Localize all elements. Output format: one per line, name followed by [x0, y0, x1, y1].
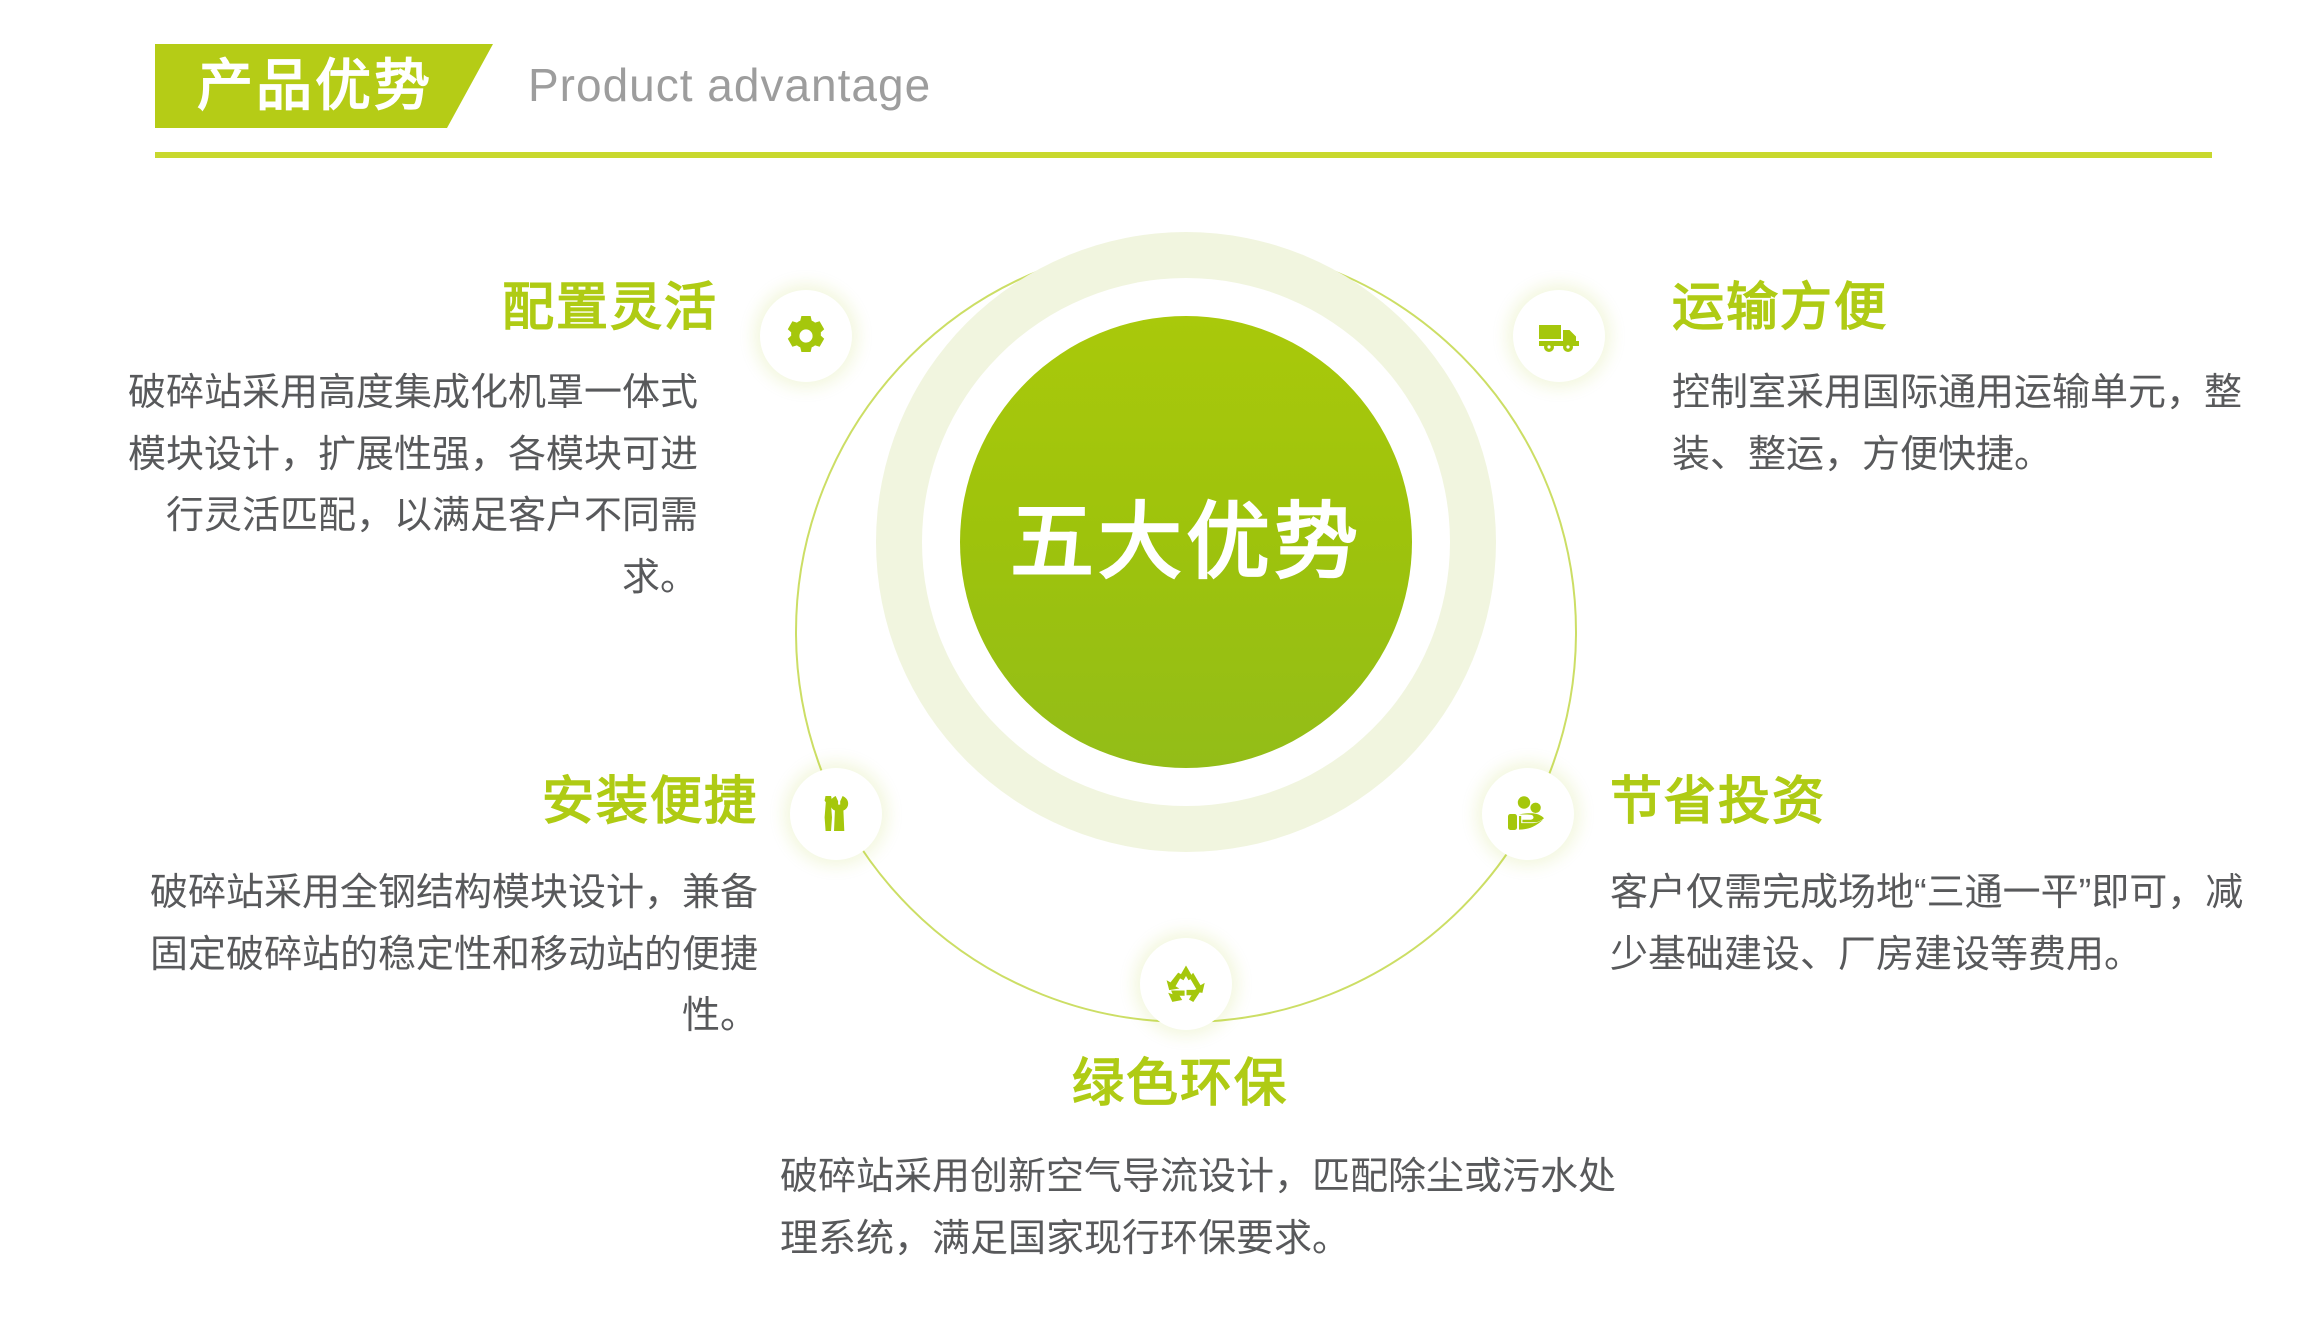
gear-icon-bubble[interactable]: [760, 290, 852, 382]
tools-icon-bubble[interactable]: [790, 768, 882, 860]
advantage-green-environmental: 绿色环保 破碎站采用创新空气导流设计，匹配除尘或污水处理系统，满足国家现行环保要…: [740, 1056, 1620, 1270]
section-title-cn: 产品优势: [197, 58, 433, 114]
advantage-body: 控制室采用国际通用运输单元，整装、整运，方便快捷。: [1672, 363, 2272, 486]
hub-core-label: 五大优势: [1010, 500, 1362, 584]
advantage-title: 配置灵活: [118, 280, 718, 337]
hub-core-circle: 五大优势: [960, 316, 1412, 768]
hand-coins-icon-bubble[interactable]: [1482, 768, 1574, 860]
advantage-body: 破碎站采用创新空气导流设计，匹配除尘或污水处理系统，满足国家现行环保要求。: [740, 1147, 1620, 1270]
truck-icon: [1535, 312, 1583, 360]
product-advantage-infographic: 产品优势 Product advantage 五大优势: [0, 0, 2312, 1328]
advantage-convenient-transport: 运输方便 控制室采用国际通用运输单元，整装、整运，方便快捷。: [1672, 280, 2272, 486]
advantage-save-investment: 节省投资 客户仅需完成场地“三通一平”即可，减少基础建设、厂房建设等费用。: [1610, 774, 2270, 986]
section-title-tag: 产品优势: [155, 44, 493, 128]
advantage-flexible-configuration: 配置灵活 破碎站采用高度集成化机罩一体式模块设计，扩展性强，各模块可进行灵活匹配…: [118, 280, 718, 609]
advantage-easy-installation: 安装便捷 破碎站采用全钢结构模块设计，兼备固定破碎站的稳定性和移动站的便捷性。: [118, 774, 758, 1048]
recycle-icon-bubble[interactable]: [1140, 938, 1232, 1030]
advantage-body: 破碎站采用全钢结构模块设计，兼备固定破碎站的稳定性和移动站的便捷性。: [118, 863, 758, 1048]
header-divider: [155, 152, 2212, 158]
advantage-body: 客户仅需完成场地“三通一平”即可，减少基础建设、厂房建设等费用。: [1610, 863, 2270, 986]
tools-icon: [812, 790, 860, 838]
advantage-title: 节省投资: [1610, 774, 2270, 831]
center-hub: 五大优势: [876, 232, 1496, 852]
advantage-title: 绿色环保: [740, 1056, 1620, 1113]
page-header: 产品优势 Product advantage: [0, 0, 2312, 170]
truck-icon-bubble[interactable]: [1513, 290, 1605, 382]
gear-icon: [782, 312, 830, 360]
section-title-en: Product advantage: [528, 60, 931, 111]
advantage-title: 安装便捷: [118, 774, 758, 831]
recycle-icon: [1162, 960, 1210, 1008]
advantage-body: 破碎站采用高度集成化机罩一体式模块设计，扩展性强，各模块可进行灵活匹配，以满足客…: [118, 363, 698, 609]
hand-coins-icon: [1504, 790, 1552, 838]
advantage-title: 运输方便: [1672, 280, 2272, 337]
